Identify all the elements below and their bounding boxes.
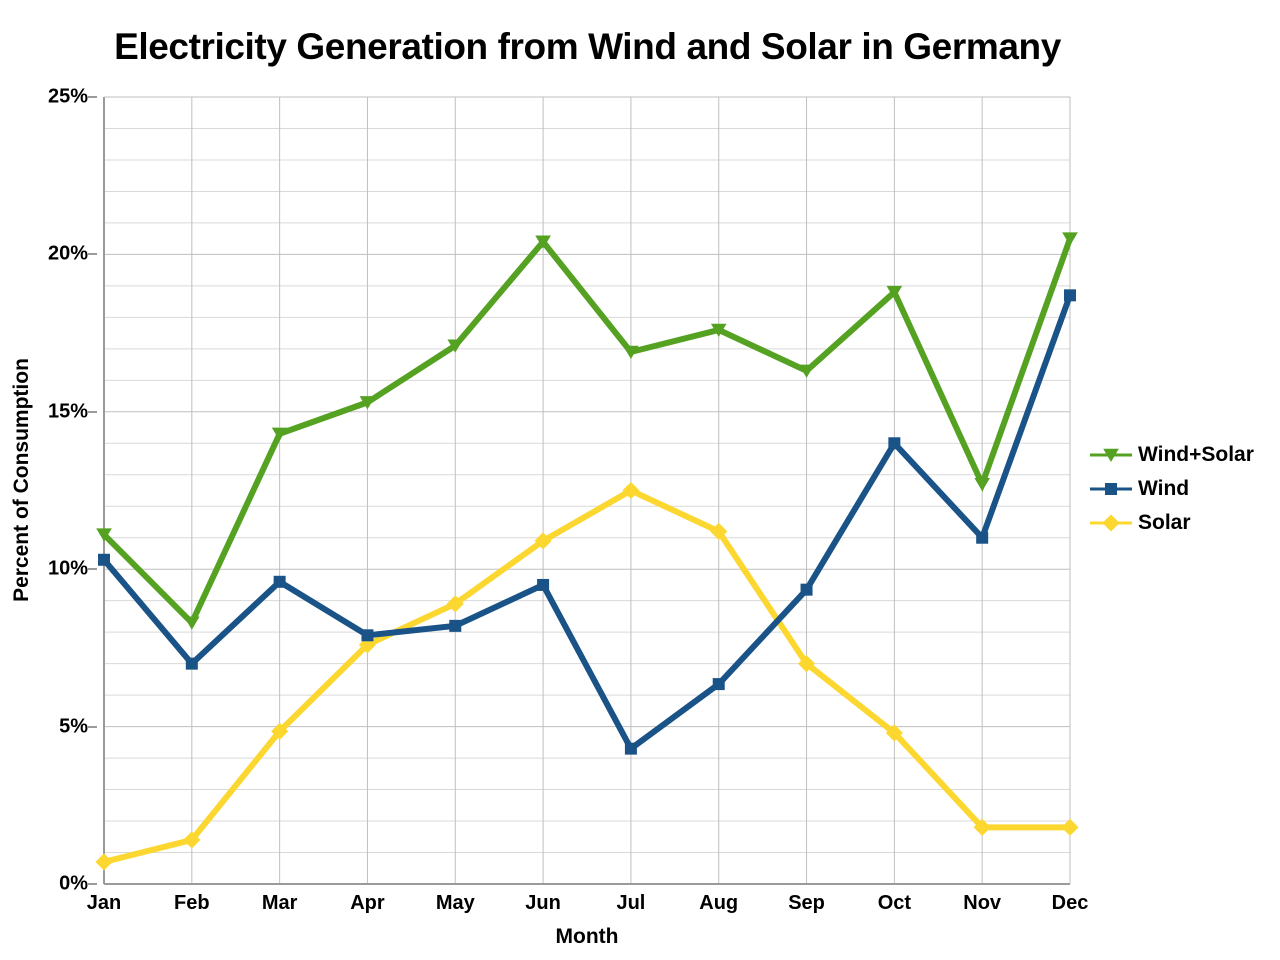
series-marker	[275, 577, 284, 586]
plot-svg	[104, 97, 1070, 884]
series-marker	[1107, 485, 1116, 494]
y-tick-label: 10%	[14, 558, 88, 581]
series-marker	[185, 617, 198, 628]
series-marker	[714, 680, 723, 689]
chart-container: Electricity Generation from Wind and Sol…	[0, 0, 1280, 960]
legend-item-solar[interactable]: Solar	[1088, 506, 1280, 540]
y-tick-label: 15%	[14, 400, 88, 423]
y-tick-mark	[88, 726, 97, 728]
x-tick-label: Dec	[1025, 892, 1115, 915]
x-tick-label: Oct	[849, 892, 939, 915]
y-tick-mark	[88, 411, 97, 413]
x-tick-label: Mar	[235, 892, 325, 915]
x-tick-label: Jan	[59, 892, 149, 915]
series-solar	[97, 483, 1078, 869]
series-marker	[978, 533, 987, 542]
series-marker	[976, 479, 989, 490]
y-tick-mark	[88, 568, 97, 570]
plot-area	[104, 97, 1070, 884]
series-marker	[363, 631, 372, 640]
legend-item-wind-solar[interactable]: Wind+Solar	[1088, 438, 1280, 472]
series-marker	[802, 585, 811, 594]
x-tick-label: Aug	[674, 892, 764, 915]
legend-marker-diamond-icon	[1088, 512, 1134, 534]
x-axis-title: Month	[104, 925, 1070, 949]
series-marker	[890, 439, 899, 448]
legend-label: Solar	[1138, 511, 1191, 535]
x-axis-tick-labels: JanFebMarAprMayJunJulAugSepOctNovDec	[104, 892, 1070, 922]
series-marker	[100, 555, 109, 564]
series-line	[104, 239, 1070, 623]
series-marker	[1104, 516, 1119, 531]
y-tick-mark	[88, 96, 97, 98]
y-tick-label: 25%	[14, 86, 88, 109]
series-marker	[1063, 820, 1078, 835]
chart-title: Electricity Generation from Wind and Sol…	[0, 26, 1175, 68]
legend-label: Wind	[1138, 477, 1189, 501]
x-tick-label: Feb	[147, 892, 237, 915]
x-tick-label: May	[410, 892, 500, 915]
series-marker	[1066, 291, 1075, 300]
chart-legend: Wind+SolarWindSolar	[1088, 438, 1280, 540]
y-tick-mark	[88, 883, 97, 885]
x-tick-label: Jun	[498, 892, 588, 915]
x-tick-label: Jul	[586, 892, 676, 915]
y-tick-label: 5%	[14, 715, 88, 738]
series-marker	[539, 580, 548, 589]
series-marker	[97, 854, 112, 869]
y-axis-tick-labels: 0%5%10%15%20%25%	[0, 97, 88, 884]
series-marker	[626, 744, 635, 753]
legend-marker-square-icon	[1088, 478, 1134, 500]
y-tick-mark	[88, 253, 97, 255]
legend-marker-triangle-down-icon	[1088, 444, 1134, 466]
series-line	[104, 491, 1070, 862]
legend-item-wind[interactable]: Wind	[1088, 472, 1280, 506]
series-marker	[187, 659, 196, 668]
x-tick-label: Apr	[322, 892, 412, 915]
series-marker	[451, 621, 460, 630]
x-tick-label: Nov	[937, 892, 1027, 915]
y-tick-label: 20%	[14, 243, 88, 266]
x-tick-label: Sep	[762, 892, 852, 915]
legend-label: Wind+Solar	[1138, 443, 1254, 467]
